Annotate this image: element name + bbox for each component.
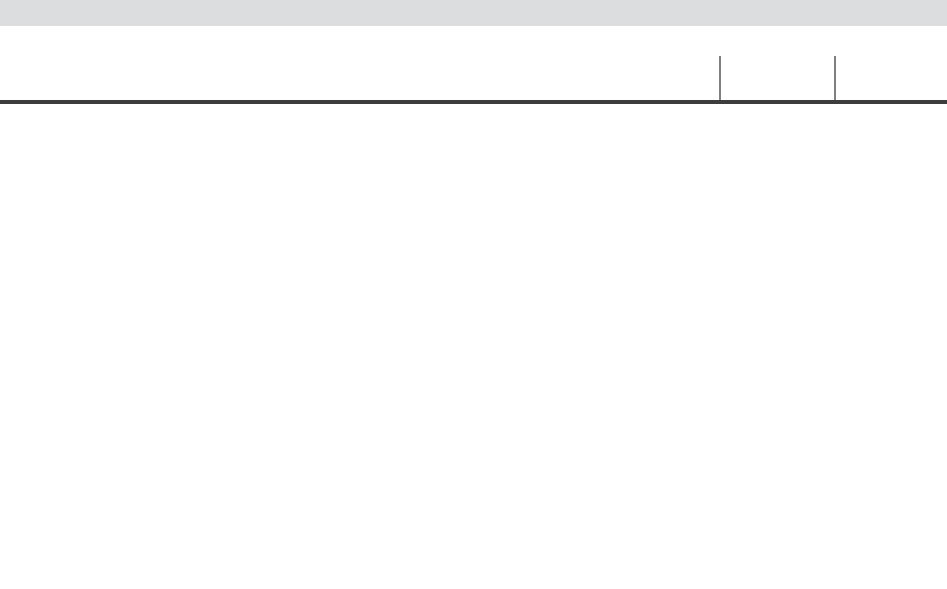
header-bottom-rule [0,100,947,104]
title-band [0,0,947,26]
header-divider-payout [834,56,836,100]
table-header [0,52,947,100]
header-divider-percentile [719,56,721,100]
performance-share-awards-table [0,0,947,589]
